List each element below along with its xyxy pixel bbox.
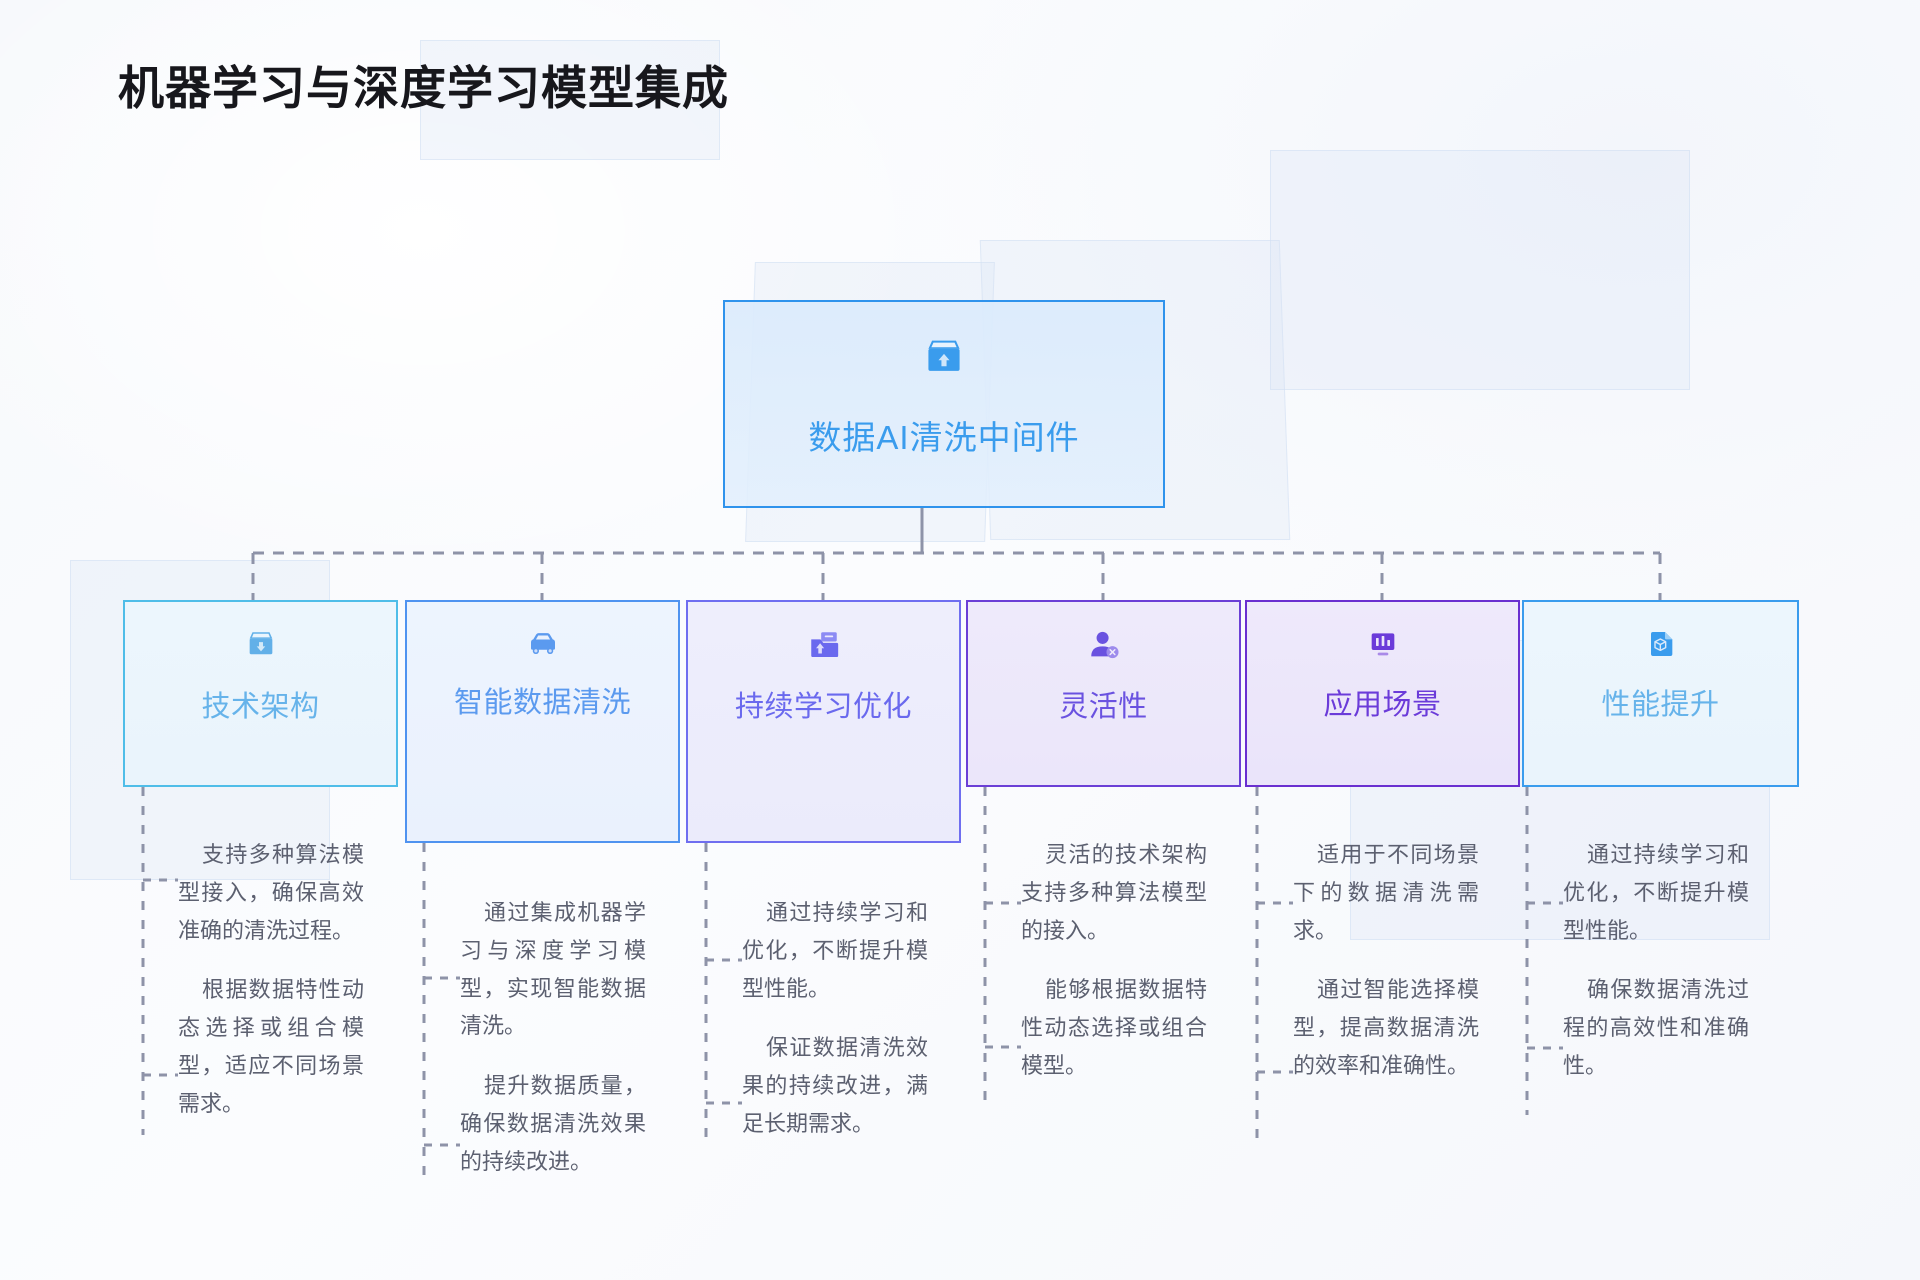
branch-card-label: 技术架构 xyxy=(147,687,375,727)
description-paragraph: 灵活的技术架构支持多种算法模型的接入。 xyxy=(1021,836,1207,949)
description-paragraph: 确保数据清洗过程的高效性和准确性。 xyxy=(1563,971,1749,1084)
description-column-4: 灵活的技术架构支持多种算法模型的接入。 能够根据数据特性动态选择或组合模型。 xyxy=(1021,836,1207,1085)
description-paragraph: 适用于不同场景下的数据清洗需求。 xyxy=(1293,836,1479,949)
description-column-2: 通过集成机器学习与深度学习模型，实现智能数据清洗。 提升数据质量，确保数据清洗效… xyxy=(460,894,646,1181)
description-column-5: 适用于不同场景下的数据清洗需求。 通过智能选择模型，提高数据清洗的效率和准确性。 xyxy=(1293,836,1479,1085)
box-download-icon xyxy=(244,628,278,667)
bar-chart-monitor-icon xyxy=(1367,628,1399,665)
branch-card-label: 智能数据清洗 xyxy=(429,683,657,723)
description-paragraph: 支持多种算法模型接入，确保高效准确的清洗过程。 xyxy=(178,836,364,949)
description-paragraph: 能够根据数据特性动态选择或组合模型。 xyxy=(1021,971,1207,1084)
folder-upload-icon xyxy=(807,628,841,667)
branch-card-technical-architecture[interactable]: 技术架构 xyxy=(123,600,398,787)
description-paragraph: 通过持续学习和优化，不断提升模型性能。 xyxy=(1563,836,1749,949)
description-paragraph: 提升数据质量，确保数据清洗效果的持续改进。 xyxy=(460,1067,646,1180)
branch-card-label: 应用场景 xyxy=(1269,685,1497,725)
root-node[interactable]: 数据AI清洗中间件 xyxy=(723,300,1165,508)
root-node-label: 数据AI清洗中间件 xyxy=(808,411,1079,459)
description-paragraph: 通过持续学习和优化，不断提升模型性能。 xyxy=(742,894,928,1007)
car-icon xyxy=(525,628,561,663)
branch-card-flexibility[interactable]: 灵活性 xyxy=(966,600,1241,787)
box-upload-icon xyxy=(922,336,966,385)
branch-card-continuous-learning-optimization[interactable]: 持续学习优化 xyxy=(686,600,961,843)
branch-card-application-scenarios[interactable]: 应用场景 xyxy=(1245,600,1520,787)
user-remove-icon xyxy=(1087,628,1121,667)
branch-card-label: 持续学习优化 xyxy=(710,687,938,727)
description-paragraph: 保证数据清洗效果的持续改进，满足长期需求。 xyxy=(742,1029,928,1142)
description-paragraph: 通过智能选择模型，提高数据清洗的效率和准确性。 xyxy=(1293,971,1479,1084)
file-cube-icon xyxy=(1645,628,1677,665)
description-paragraph: 通过集成机器学习与深度学习模型，实现智能数据清洗。 xyxy=(460,894,646,1045)
description-column-3: 通过持续学习和优化，不断提升模型性能。 保证数据清洗效果的持续改进，满足长期需求… xyxy=(742,894,928,1143)
branch-card-label: 性能提升 xyxy=(1546,685,1775,725)
description-column-1: 支持多种算法模型接入，确保高效准确的清洗过程。 根据数据特性动态选择或组合模型，… xyxy=(178,836,364,1123)
page-title: 机器学习与深度学习模型集成 xyxy=(118,52,729,118)
description-paragraph: 根据数据特性动态选择或组合模型，适应不同场景需求。 xyxy=(178,971,364,1122)
branch-card-label: 灵活性 xyxy=(990,687,1218,727)
branch-card-performance-improvement[interactable]: 性能提升 xyxy=(1522,600,1799,787)
description-column-6: 通过持续学习和优化，不断提升模型性能。 确保数据清洗过程的高效性和准确性。 xyxy=(1563,836,1749,1085)
branch-card-intelligent-data-cleaning[interactable]: 智能数据清洗 xyxy=(405,600,680,843)
